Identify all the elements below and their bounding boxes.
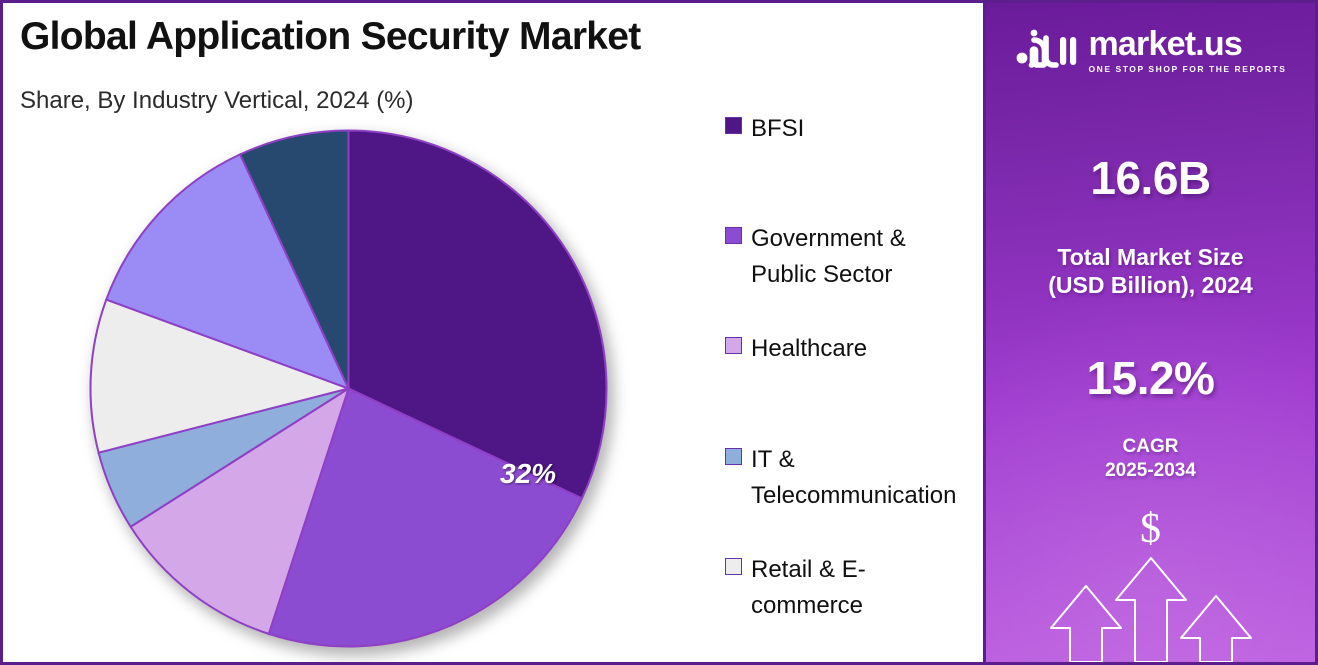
dollar-sign-icon: $ <box>986 508 1315 550</box>
legend-item-retail-ecommerce[interactable]: Retail & E-commerce <box>725 552 975 624</box>
market-us-logo-icon <box>1015 28 1077 74</box>
legend-swatch-retail-ecommerce <box>725 558 742 575</box>
cagr-caption-line2: 2025-2034 <box>986 459 1315 483</box>
cagr-caption: CAGR 2025-2034 <box>986 435 1315 483</box>
infographic-root: Global Application Security Market Share… <box>0 0 1318 665</box>
page-subtitle: Share, By Industry Vertical, 2024 (%) <box>20 87 414 115</box>
cagr-value: 15.2% <box>986 351 1315 405</box>
brand-logo-text: market.us ONE STOP SHOP FOR THE REPORTS <box>1089 27 1287 74</box>
chart-panel: Global Application Security Market Share… <box>3 3 986 662</box>
brand-tagline: ONE STOP SHOP FOR THE REPORTS <box>1089 64 1287 74</box>
pie-chart: 32% <box>88 128 609 649</box>
market-size-caption-line1: Total Market Size <box>986 243 1315 271</box>
legend-item-it-telecommunication[interactable]: IT & Telecommunication <box>725 442 975 514</box>
legend-item-bfsi[interactable]: BFSI <box>725 111 975 147</box>
cagr-caption-line1: CAGR <box>986 435 1315 459</box>
brand-logo[interactable]: market.us ONE STOP SHOP FOR THE REPORTS <box>986 27 1315 74</box>
legend-label-government-public-sector: Government & Public Sector <box>751 221 975 293</box>
market-size-value: 16.6B <box>986 151 1315 205</box>
legend-swatch-healthcare <box>725 337 742 354</box>
legend-swatch-it-telecommunication <box>725 448 742 465</box>
legend-label-healthcare: Healthcare <box>751 331 867 367</box>
market-size-caption-line2: (USD Billion), 2024 <box>986 271 1315 299</box>
legend-item-government-public-sector[interactable]: Government & Public Sector <box>725 221 975 293</box>
legend-label-retail-ecommerce: Retail & E-commerce <box>751 552 975 624</box>
page-title: Global Application Security Market <box>20 15 641 59</box>
market-size-caption: Total Market Size (USD Billion), 2024 <box>986 243 1315 299</box>
growth-arrows-decoration: $ <box>986 502 1315 662</box>
pie-slice-label-bfsi: 32% <box>500 458 556 490</box>
legend-swatch-bfsi <box>725 117 742 134</box>
stats-panel: market.us ONE STOP SHOP FOR THE REPORTS … <box>986 3 1315 662</box>
pie-chart-svg <box>88 128 609 649</box>
legend-swatch-government-public-sector <box>725 227 742 244</box>
legend-item-healthcare[interactable]: Healthcare <box>725 331 975 367</box>
legend-label-bfsi: BFSI <box>751 111 804 147</box>
brand-name: market.us <box>1089 27 1242 61</box>
legend-label-it-telecommunication: IT & Telecommunication <box>751 442 975 514</box>
